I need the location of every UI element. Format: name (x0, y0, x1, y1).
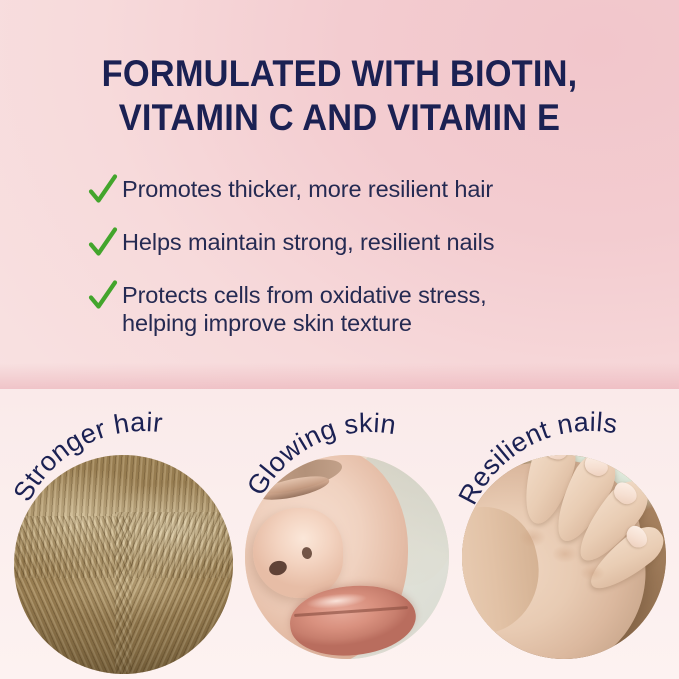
benefits-list: Promotes thicker, more resilient hair He… (88, 172, 628, 337)
hair-vignette (14, 455, 233, 674)
nails-vignette (462, 455, 666, 659)
check-icon (88, 226, 118, 260)
headline-line-1: FORMULATED WITH BIOTIN, (24, 52, 655, 96)
skin-vignette (245, 455, 449, 659)
showcase-image-stronger-hair (14, 455, 233, 674)
benefit-text: Protects cells from oxidative stress, he… (122, 278, 487, 337)
list-item: Helps maintain strong, resilient nails (88, 225, 628, 260)
benefit-line-1: Promotes thicker, more resilient hair (122, 175, 493, 203)
showcase-image-resilient-nails (462, 455, 666, 659)
list-item: Promotes thicker, more resilient hair (88, 172, 628, 207)
benefit-text: Helps maintain strong, resilient nails (122, 225, 494, 256)
infographic-canvas: FORMULATED WITH BIOTIN, VITAMIN C AND VI… (0, 0, 679, 679)
page-title: FORMULATED WITH BIOTIN, VITAMIN C AND VI… (24, 52, 655, 140)
benefit-line-1: Protects cells from oxidative stress, (122, 281, 487, 309)
check-icon (88, 173, 118, 207)
check-icon (88, 279, 118, 313)
list-item: Protects cells from oxidative stress, he… (88, 278, 628, 337)
top-panel: FORMULATED WITH BIOTIN, VITAMIN C AND VI… (0, 0, 679, 389)
benefit-line-2: helping improve skin texture (122, 309, 487, 337)
showcase-image-glowing-skin (245, 455, 449, 659)
benefit-text: Promotes thicker, more resilient hair (122, 172, 493, 203)
benefit-line-1: Helps maintain strong, resilient nails (122, 228, 494, 256)
showcase-panel (0, 389, 679, 679)
headline-line-2: VITAMIN C AND VITAMIN E (24, 96, 655, 140)
